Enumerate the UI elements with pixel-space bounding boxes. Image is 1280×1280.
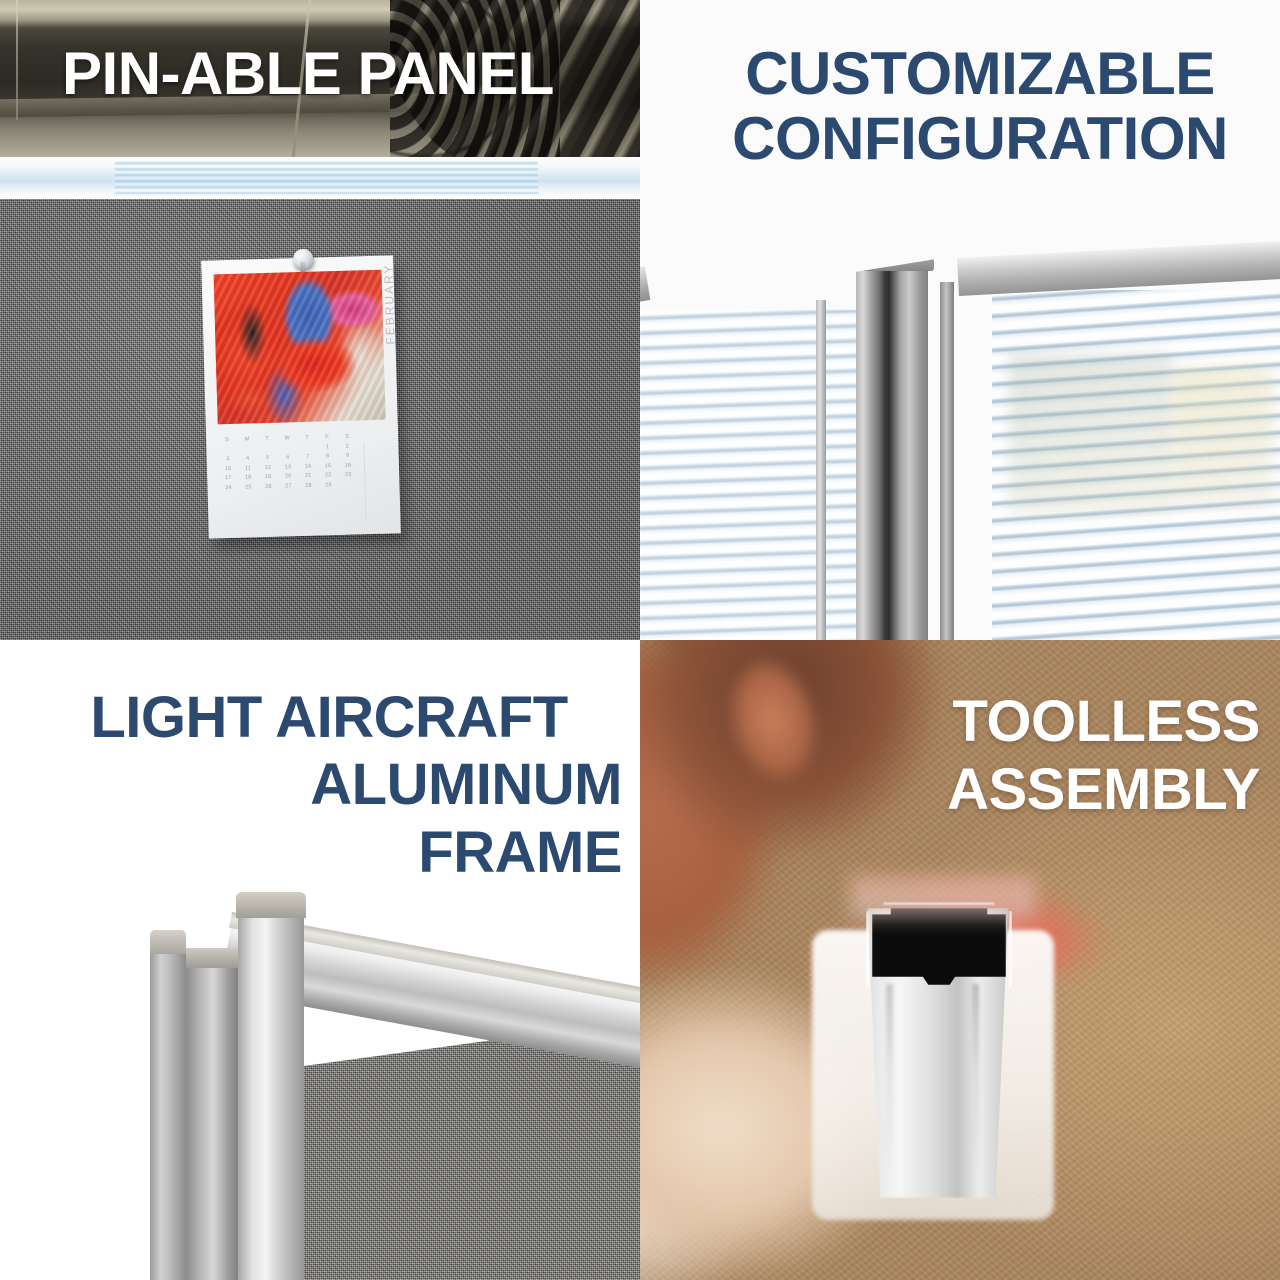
calendar-day: 5 — [259, 456, 277, 462]
calendar-day: 13 — [279, 465, 297, 471]
frame-mullion — [940, 282, 954, 640]
calendar-day: 9 — [339, 453, 357, 459]
calendar-day — [218, 447, 236, 453]
caption-line-3: FRAME — [36, 819, 622, 886]
aluminium-post-rear — [150, 948, 186, 1280]
aluminium-post-middle-cap — [186, 948, 238, 968]
frame-edge-left — [816, 300, 826, 640]
window-blinds-right — [992, 290, 1280, 640]
calendar-day: 23 — [339, 472, 357, 478]
calendar-month-label: FEBRUARY — [381, 263, 397, 344]
calendar-weekday: T — [298, 436, 316, 442]
caption-line-1: CUSTOMIZABLE — [745, 40, 1215, 107]
caption-line-2: ASSEMBLY — [947, 757, 1260, 822]
calendar-day: 19 — [259, 475, 277, 481]
calendar-day: 18 — [239, 475, 257, 481]
calendar-day: 24 — [219, 485, 237, 491]
calendar-day: 11 — [239, 466, 257, 472]
calendar-day: 6 — [279, 455, 297, 461]
calendar-weekday: W — [278, 436, 296, 442]
aluminium-post-front — [238, 912, 304, 1280]
caption-line-2: CONFIGURATION — [732, 105, 1228, 172]
calendar-day: 22 — [319, 473, 337, 479]
window-blinds-left — [640, 310, 868, 640]
calendar-weekday: S — [218, 438, 236, 444]
panel-top-rail — [0, 157, 640, 199]
aluminium-post-front-cap — [236, 892, 306, 918]
calendar-day: 4 — [239, 456, 257, 462]
extrusion-fin-left — [886, 984, 893, 1174]
calendar-day: 16 — [339, 463, 357, 469]
feature-grid-canvas: FEBRUARY S M T W T F S 1 2 3 4 5 6 — [0, 0, 1280, 1280]
calendar-day: 17 — [219, 476, 237, 482]
push-pin-icon — [293, 249, 314, 270]
caption-toolless-assembly: TOOLLESS ASSEMBLY — [880, 688, 1260, 825]
caption-line-1: LIGHT AIRCRAFT — [36, 684, 622, 751]
calendar-day: 10 — [219, 466, 237, 472]
caption-customizable-configuration: CUSTOMIZABLE CONFIGURATION — [700, 42, 1260, 172]
aluminium-post-rear-cap — [150, 930, 186, 954]
caption-light-aircraft-aluminum-frame: LIGHT AIRCRAFT ALUMINUM FRAME — [36, 684, 622, 886]
caption-pin-able-panel: PIN-ABLE PANEL — [62, 44, 622, 104]
calendar-day — [278, 446, 296, 452]
ceiling-conduit-secondary — [16, 0, 18, 120]
calendar-grid: S M T W T F S 1 2 3 4 5 6 7 8 9 — [218, 434, 387, 492]
calendar-day: 14 — [299, 464, 317, 470]
thumb-blur-overlay — [850, 876, 1036, 918]
pinned-calendar: FEBRUARY S M T W T F S 1 2 3 4 5 6 — [201, 255, 401, 538]
calendar-artwork — [214, 270, 386, 425]
calendar-day: 8 — [319, 454, 337, 460]
calendar-day: 26 — [259, 484, 277, 490]
calendar-day: 12 — [259, 465, 277, 471]
calendar-weekday: S — [338, 434, 356, 440]
calendar-day: 7 — [299, 455, 317, 461]
caption-line-2: ALUMINUM — [36, 751, 622, 818]
calendar-day: 25 — [239, 485, 257, 491]
calendar-day: 28 — [299, 483, 317, 489]
calendar-day: 29 — [319, 483, 337, 489]
extrusion-fin-right — [972, 984, 979, 1174]
calendar-day — [258, 446, 276, 452]
aluminium-connector-post — [856, 252, 928, 640]
calendar-day — [339, 482, 357, 488]
calendar-day: 20 — [279, 474, 297, 480]
calendar-day: 3 — [219, 457, 237, 463]
calendar-day — [298, 445, 316, 451]
calendar-day: 1 — [318, 445, 336, 451]
calendar-weekday: T — [258, 437, 276, 443]
calendar-day: 27 — [279, 484, 297, 490]
calendar-day — [238, 447, 256, 453]
caption-line-1: TOOLLESS — [952, 689, 1260, 754]
calendar-day: 15 — [319, 464, 337, 470]
aluminium-post-middle — [186, 962, 238, 1280]
calendar-weekday: F — [318, 435, 336, 441]
calendar-day: 21 — [299, 474, 317, 480]
calendar-day: 2 — [338, 444, 356, 450]
calendar-weekday: M — [238, 437, 256, 443]
